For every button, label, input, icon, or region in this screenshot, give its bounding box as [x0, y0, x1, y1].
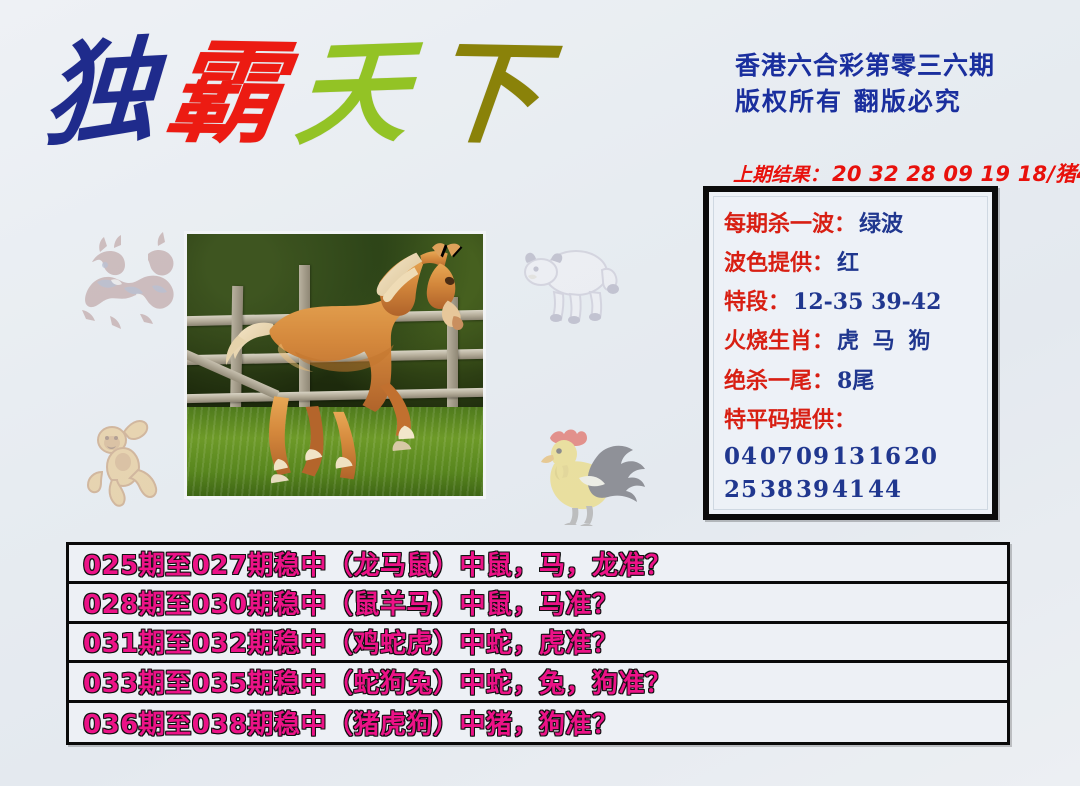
lucky-number: 41: [832, 473, 868, 506]
tip-value-1: 红: [837, 250, 859, 276]
lucky-number: 04: [724, 440, 760, 473]
tip-row-5: 特平码提供：: [724, 401, 977, 440]
tip-value-4: 8尾: [837, 368, 874, 394]
rooster-icon: [524, 420, 646, 526]
issue-title: 香港六合彩第零三六期: [735, 48, 1065, 84]
prediction-text: 036期至038期稳中（猪虎狗）中猪，狗准？: [83, 704, 619, 741]
table-row: 033期至035期稳中（蛇狗兔）中蛇，兔，狗准？: [69, 663, 1007, 702]
lucky-numbers-row-2: 2538394144: [724, 473, 977, 506]
tip-label-2: 特段：: [724, 289, 790, 315]
table-row: 031期至032期稳中（鸡蛇虎）中蛇，虎准？: [69, 624, 1007, 663]
site-logo-title: 独 霸 天 下: [44, 38, 538, 150]
horse-photo: [184, 231, 486, 499]
lucky-number: 07: [760, 440, 796, 473]
lucky-numbers-row-1: 040709131620: [724, 440, 977, 473]
lucky-number: 25: [724, 473, 760, 506]
poster-canvas: 独 霸 天 下 香港六合彩第零三六期 版权所有 翻版必究 上期结果：20 32 …: [0, 0, 1080, 786]
tip-value-3: 虎 马 狗: [837, 328, 933, 354]
tip-label-0: 每期杀一波：: [724, 211, 856, 237]
dragon-icon: [66, 224, 184, 336]
logo-char-4: 下: [422, 37, 544, 151]
tip-label-5: 特平码提供：: [724, 407, 856, 433]
tip-value-0: 绿波: [859, 211, 903, 237]
lucky-number: 39: [796, 473, 832, 506]
logo-char-3: 天: [292, 36, 410, 152]
tip-label-1: 波色提供：: [724, 250, 834, 276]
lucky-number: 09: [796, 440, 832, 473]
logo-char-2: 霸: [160, 37, 286, 151]
predictions-table: 025期至027期稳中（龙马鼠）中鼠，马，龙准？ 028期至030期稳中（鼠羊马…: [66, 542, 1010, 745]
lucky-number: 44: [868, 473, 904, 506]
lucky-number: 38: [760, 473, 796, 506]
header-text-block: 香港六合彩第零三六期 版权所有 翻版必究: [735, 48, 1065, 121]
horse-figure: [187, 234, 483, 496]
tip-row-1: 波色提供：红: [724, 244, 977, 283]
tip-label-3: 火烧生肖：: [724, 328, 834, 354]
previous-result-value: 20 32 28 09 19 18/猪44水/绿: [832, 162, 1080, 186]
lucky-number: 20: [904, 440, 940, 473]
lucky-number: 13: [832, 440, 868, 473]
tip-row-4: 绝杀一尾：8尾: [724, 362, 977, 401]
tip-row-0: 每期杀一波：绿波: [724, 205, 977, 244]
prediction-text: 031期至032期稳中（鸡蛇虎）中蛇，虎准？: [83, 623, 619, 660]
lucky-number: 16: [868, 440, 904, 473]
table-row: 028期至030期稳中（鼠羊马）中鼠，马准？: [69, 584, 1007, 623]
ox-icon: [518, 232, 628, 330]
tips-info-box: 每期杀一波：绿波 波色提供：红 特段：12-35 39-42 火烧生肖：虎 马 …: [703, 186, 998, 520]
tip-row-2: 特段：12-35 39-42: [724, 283, 977, 322]
tip-row-3: 火烧生肖：虎 马 狗: [724, 322, 977, 361]
tip-value-2: 12-35 39-42: [793, 289, 941, 315]
prediction-text: 033期至035期稳中（蛇狗兔）中蛇，兔，狗准？: [83, 663, 672, 700]
table-row: 036期至038期稳中（猪虎狗）中猪，狗准？: [69, 703, 1007, 742]
table-row: 025期至027期稳中（龙马鼠）中鼠，马，龙准？: [69, 545, 1007, 584]
monkey-icon: [78, 410, 182, 514]
previous-result-line: 上期结果：20 32 28 09 19 18/猪44水/绿: [733, 158, 1080, 188]
logo-char-1: 独: [41, 35, 157, 153]
tip-label-4: 绝杀一尾：: [724, 368, 834, 394]
copyright-notice: 版权所有 翻版必究: [735, 84, 1065, 120]
prediction-text: 028期至030期稳中（鼠羊马）中鼠，马准？: [83, 584, 619, 621]
previous-result-label: 上期结果：: [733, 164, 829, 186]
prediction-text: 025期至027期稳中（龙马鼠）中鼠，马，龙准？: [83, 545, 672, 582]
